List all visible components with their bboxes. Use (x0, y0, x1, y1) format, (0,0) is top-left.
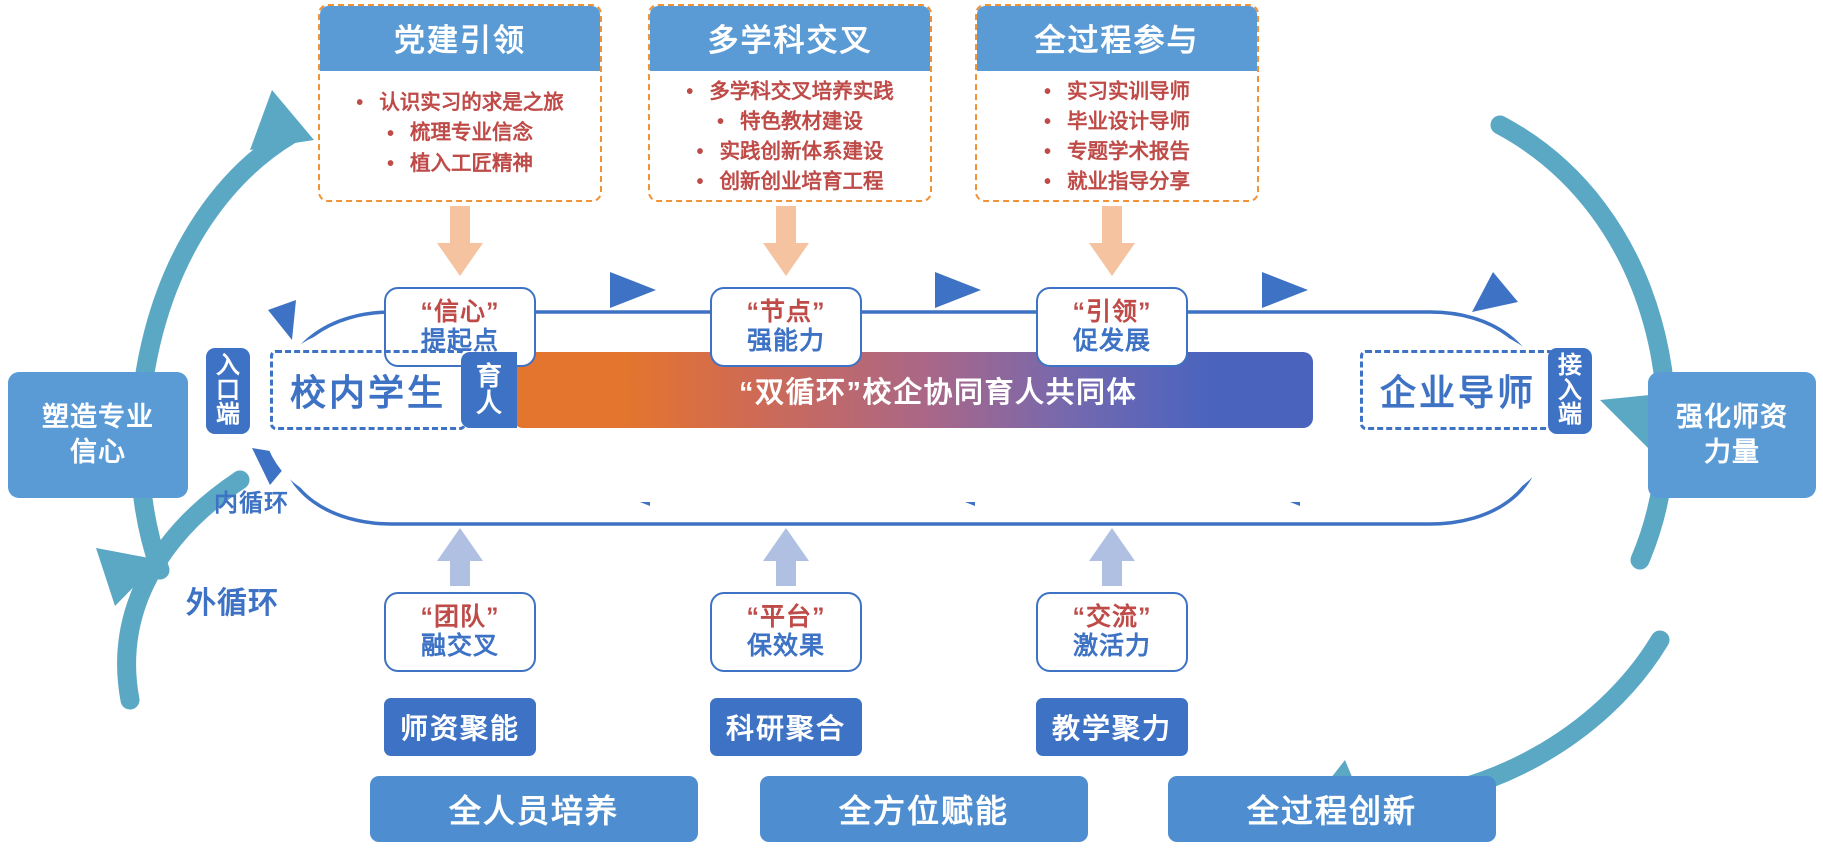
role-box-left[interactable]: 校内学生 (270, 350, 466, 430)
bullet-icon: • (696, 142, 703, 162)
topic-card-2-item-3-text: 创新创业培育工程 (720, 167, 884, 197)
bullet-icon: • (1044, 82, 1051, 102)
entry-tab-right-char-3: 端 (1558, 403, 1582, 427)
topic-card-2-title: 多学科交叉 (650, 6, 930, 71)
topic-card-2-item-1-text: 特色教材建设 (740, 107, 863, 137)
bullet-icon: • (356, 93, 363, 113)
side-panel-right[interactable]: 强化师资 力量 (1648, 372, 1816, 498)
entry-tab-left-char-3: 端 (216, 403, 240, 427)
side-panel-right-line-2: 力量 (1704, 435, 1760, 470)
topic-card-2-item-1: • 特色教材建设 (717, 107, 863, 137)
center-bar-label: “双循环”校企协同育人共同体 (689, 369, 1137, 411)
topic-card-1-title: 党建引领 (320, 6, 600, 71)
peach-down-arrows (437, 206, 1135, 276)
support-box-2-sub: 保效果 (747, 632, 825, 662)
diagram-canvas: 党建引领 • 认识实习的求是之旅 • 梳理专业信念 • 植入工匠精神 多学科交叉… (0, 0, 1823, 853)
topic-card-1-item-0: • 认识实习的求是之旅 (356, 88, 564, 118)
topic-card-3-item-1: • 毕业设计导师 (1044, 107, 1190, 137)
topic-card-3-item-0-text: 实习实训导师 (1067, 77, 1190, 107)
yuren-tab-char-2: 人 (476, 390, 502, 417)
topic-card-3[interactable]: 全过程参与 • 实习实训导师 • 毕业设计导师 • 专题学术报告 • 就业指导分… (975, 4, 1259, 202)
topic-card-2-item-2: • 实践创新体系建设 (696, 137, 883, 167)
mid-blue-box-1[interactable]: 师资聚能 (384, 698, 536, 756)
support-box-3[interactable]: “交流” 激活力 (1036, 592, 1188, 672)
bottom-blue-box-3[interactable]: 全过程创新 (1168, 776, 1496, 842)
bullet-icon: • (1044, 142, 1051, 162)
topic-card-3-item-1-text: 毕业设计导师 (1067, 107, 1190, 137)
bottom-blue-box-2[interactable]: 全方位赋能 (760, 776, 1088, 842)
entry-tab-left-char-2: 口 (216, 379, 240, 403)
topic-card-2-item-0-text: 多学科交叉培养实践 (709, 77, 894, 107)
topic-card-3-item-3-text: 就业指导分享 (1067, 167, 1190, 197)
phase-box-2-sub: 强能力 (747, 327, 825, 357)
topic-card-3-item-3: • 就业指导分享 (1044, 167, 1190, 197)
role-box-right[interactable]: 企业导师 (1360, 350, 1556, 430)
support-box-2-quoted: “平台” (746, 603, 825, 633)
bottom-blue-box-1[interactable]: 全人员培养 (370, 776, 698, 842)
support-box-3-quoted: “交流” (1072, 603, 1151, 633)
entry-tab-left: 入 口 端 (206, 348, 250, 434)
bullet-icon: • (387, 124, 394, 144)
topic-card-3-title: 全过程参与 (977, 6, 1257, 71)
topic-card-1-body: • 认识实习的求是之旅 • 梳理专业信念 • 植入工匠精神 (320, 71, 600, 200)
topic-card-3-item-2: • 专题学术报告 (1044, 137, 1190, 167)
topic-card-1[interactable]: 党建引领 • 认识实习的求是之旅 • 梳理专业信念 • 植入工匠精神 (318, 4, 602, 202)
support-box-2[interactable]: “平台” 保效果 (710, 592, 862, 672)
phase-box-2[interactable]: “节点” 强能力 (710, 287, 862, 367)
entry-tab-left-char-1: 入 (216, 354, 240, 378)
topic-card-1-item-1: • 梳理专业信念 (387, 118, 533, 148)
topic-card-3-body: • 实习实训导师 • 毕业设计导师 • 专题学术报告 • 就业指导分享 (977, 71, 1257, 202)
topic-card-2-item-0: • 多学科交叉培养实践 (686, 77, 894, 107)
yuren-tab-char-1: 育 (476, 363, 502, 390)
bullet-icon: • (717, 112, 724, 132)
support-box-1-quoted: “团队” (420, 603, 499, 633)
topic-card-1-item-0-text: 认识实习的求是之旅 (379, 88, 564, 118)
bullet-icon: • (686, 82, 693, 102)
bullet-icon: • (696, 172, 703, 192)
phase-box-3-sub: 促发展 (1073, 327, 1151, 357)
side-panel-right-line-1: 强化师资 (1676, 400, 1788, 435)
role-box-left-label: 校内学生 (290, 364, 446, 416)
role-box-right-label: 企业导师 (1380, 364, 1536, 416)
entry-tab-right-char-2: 入 (1558, 379, 1582, 403)
bullet-icon: • (1044, 112, 1051, 132)
yuren-tab: 育 人 (461, 352, 517, 428)
phase-box-3[interactable]: “引领” 促发展 (1036, 287, 1188, 367)
entry-tab-right: 接 入 端 (1548, 348, 1592, 434)
support-box-1[interactable]: “团队” 融交叉 (384, 592, 536, 672)
outer-cycle-label: 外循环 (186, 578, 279, 622)
side-panel-left-line-1: 塑造专业 (42, 400, 154, 435)
topic-card-1-item-2-text: 植入工匠精神 (410, 149, 533, 179)
phase-box-1-quoted: “信心” (420, 298, 499, 328)
phase-box-2-quoted: “节点” (746, 298, 825, 328)
mid-blue-box-2[interactable]: 科研聚合 (710, 698, 862, 756)
side-panel-left-line-2: 信心 (70, 435, 126, 470)
topic-card-2-item-2-text: 实践创新体系建设 (720, 137, 884, 167)
inner-cycle-label: 内循环 (214, 483, 289, 518)
topic-card-3-item-2-text: 专题学术报告 (1067, 137, 1190, 167)
support-box-1-sub: 融交叉 (421, 632, 499, 662)
topic-card-2-item-3: • 创新创业培育工程 (696, 167, 883, 197)
bullet-icon: • (387, 154, 394, 174)
topic-card-1-item-1-text: 梳理专业信念 (410, 118, 533, 148)
topic-card-3-item-0: • 实习实训导师 (1044, 77, 1190, 107)
topic-card-2-body: • 多学科交叉培养实践 • 特色教材建设 • 实践创新体系建设 • 创新创业培育… (650, 71, 930, 202)
lavender-up-arrows (437, 528, 1135, 586)
topic-card-1-item-2: • 植入工匠精神 (387, 149, 533, 179)
phase-box-3-quoted: “引领” (1072, 298, 1151, 328)
topic-card-2[interactable]: 多学科交叉 • 多学科交叉培养实践 • 特色教材建设 • 实践创新体系建设 • … (648, 4, 932, 202)
entry-tab-right-char-1: 接 (1558, 354, 1582, 378)
mid-blue-box-3[interactable]: 教学聚力 (1036, 698, 1188, 756)
support-box-3-sub: 激活力 (1073, 632, 1151, 662)
bullet-icon: • (1044, 172, 1051, 192)
side-panel-left[interactable]: 塑造专业 信心 (8, 372, 188, 498)
center-gradient-bar: “双循环”校企协同育人共同体 (513, 352, 1313, 428)
